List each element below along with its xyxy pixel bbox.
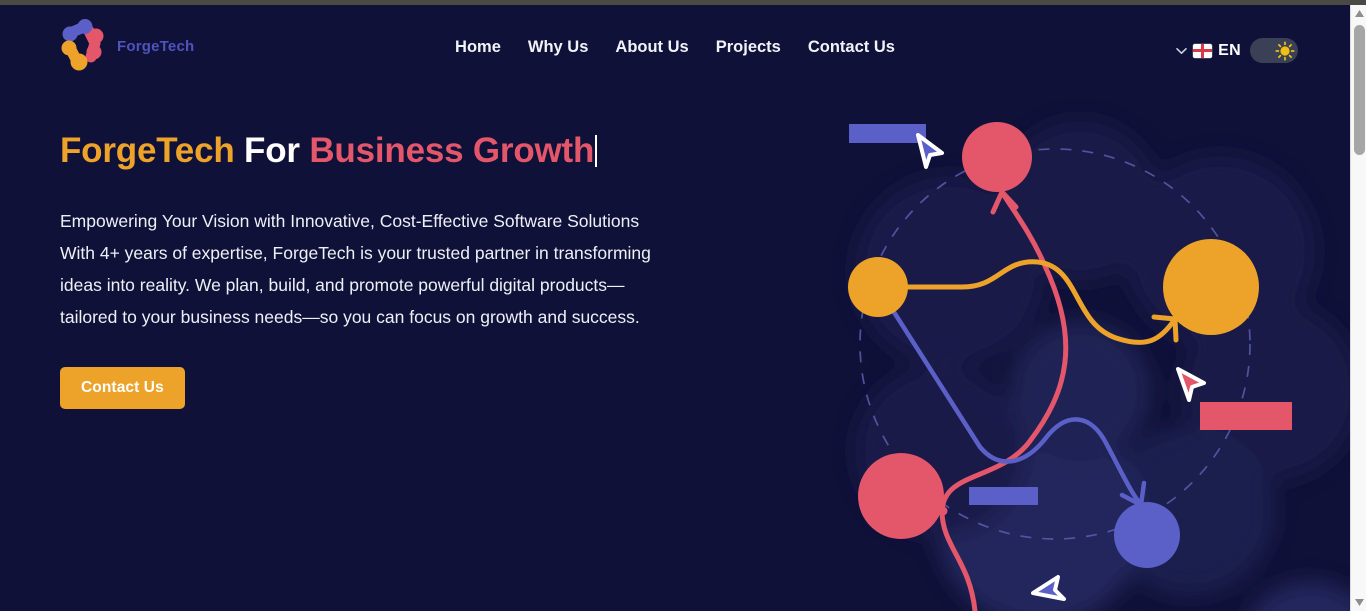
purple-rect-bottom: [969, 487, 1038, 505]
nav-item-projects[interactable]: Projects: [716, 38, 781, 57]
typing-caret: [595, 135, 597, 167]
scroll-down-arrow-icon[interactable]: [1351, 594, 1366, 611]
contact-us-button[interactable]: Contact Us: [60, 367, 185, 409]
scroll-up-arrow-icon[interactable]: [1351, 5, 1366, 22]
network-collaboration-illustration: [830, 91, 1350, 611]
nav-item-contact-us[interactable]: Contact Us: [808, 38, 895, 57]
orange-circle-right: [1163, 239, 1259, 335]
england-flag-icon: [1193, 44, 1212, 58]
language-code: EN: [1218, 42, 1241, 60]
blue-circle-bottom: [1114, 502, 1180, 568]
browser-chrome-strip: [0, 0, 1366, 5]
red-rect-right: [1200, 402, 1292, 430]
hero-section: ForgeTech For Business Growth Empowering…: [0, 91, 1350, 611]
site-header: ForgeTech Home Why Us About Us Projects …: [0, 5, 1350, 91]
language-selector[interactable]: EN: [1176, 42, 1241, 60]
scroll-thumb[interactable]: [1354, 25, 1365, 155]
red-circle-top: [962, 122, 1032, 192]
nav-item-why-us[interactable]: Why Us: [528, 38, 589, 57]
vertical-scrollbar[interactable]: [1350, 5, 1366, 611]
theme-toggle[interactable]: [1250, 38, 1298, 63]
red-circle-left: [858, 453, 944, 539]
page-canvas: ForgeTech Home Why Us About Us Projects …: [0, 5, 1350, 611]
chevron-down-icon: [1176, 42, 1187, 60]
hero-subtitle: Empowering Your Vision with Innovative, …: [60, 205, 660, 333]
main-nav: Home Why Us About Us Projects Contact Us: [0, 38, 1350, 57]
header-controls: EN: [1176, 38, 1298, 63]
title-part-highlight: Business Growth: [309, 131, 594, 170]
sun-icon: [1275, 41, 1295, 61]
page-title: ForgeTech For Business Growth: [60, 130, 680, 171]
orange-circle-left: [848, 257, 908, 317]
nav-item-home[interactable]: Home: [455, 38, 501, 57]
purple-rect-top: [849, 124, 926, 143]
cursor-arrow-purple-top: [918, 135, 942, 167]
nav-item-about-us[interactable]: About Us: [615, 38, 688, 57]
title-part-brand: ForgeTech: [60, 131, 235, 170]
hero-copy: ForgeTech For Business Growth Empowering…: [60, 130, 680, 409]
browser-viewport: ForgeTech Home Why Us About Us Projects …: [0, 0, 1366, 611]
title-part-for: For: [235, 131, 310, 170]
